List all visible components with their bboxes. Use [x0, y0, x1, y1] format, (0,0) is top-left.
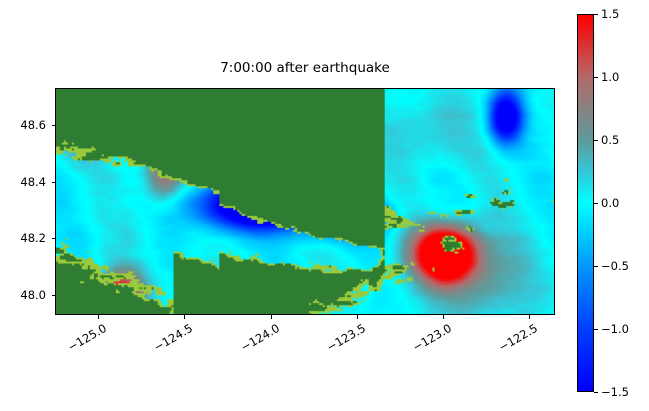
y-axis-tick-label: 48.6 [2, 118, 46, 132]
tsunami-heatmap-canvas [56, 89, 554, 314]
colorbar-tick-label: −1.0 [601, 322, 629, 336]
y-axis-tick-label: 48.0 [2, 288, 46, 302]
colorbar-tick [594, 140, 598, 141]
x-axis-tick-label: −124.5 [145, 321, 195, 358]
colorbar-tick-label: 1.5 [601, 7, 619, 21]
colorbar-tick-label: −1.5 [601, 385, 629, 399]
y-axis-tick-label: 48.2 [2, 231, 46, 245]
x-axis-tick [98, 315, 99, 319]
x-axis-tick-label: −122.5 [490, 321, 540, 358]
x-axis-tick-label: −123.5 [317, 321, 367, 358]
y-axis-tick [52, 125, 56, 126]
x-axis-tick [443, 315, 444, 319]
y-axis-tick [52, 295, 56, 296]
colorbar-tick [594, 203, 598, 204]
colorbar-axes[interactable] [577, 14, 594, 392]
colorbar-tick [594, 77, 598, 78]
x-axis-tick [357, 315, 358, 319]
matplotlib-figure: 7:00:00 after earthquake −125.0−124.5−12… [0, 0, 649, 411]
colorbar-tick-label: 0.5 [601, 133, 619, 147]
colorbar-tick [594, 266, 598, 267]
page-title: 7:00:00 after earthquake [55, 60, 555, 76]
colorbar-tick [594, 392, 598, 393]
colorbar-tick-label: −0.5 [601, 259, 629, 273]
y-axis-tick [52, 238, 56, 239]
x-axis-tick-label: −123.0 [404, 321, 454, 358]
map-axes[interactable] [55, 88, 555, 315]
colorbar-gradient [578, 15, 593, 391]
x-axis-tick [271, 315, 272, 319]
x-axis-tick-label: −125.0 [59, 321, 109, 358]
colorbar-tick [594, 329, 598, 330]
x-axis-tick [184, 315, 185, 319]
x-axis-tick [529, 315, 530, 319]
x-axis-tick-label: −124.0 [231, 321, 281, 358]
colorbar-tick [594, 14, 598, 15]
colorbar-tick-label: 0.0 [601, 196, 619, 210]
colorbar-tick-label: 1.0 [601, 70, 619, 84]
y-axis-tick [52, 182, 56, 183]
y-axis-tick-label: 48.4 [2, 175, 46, 189]
